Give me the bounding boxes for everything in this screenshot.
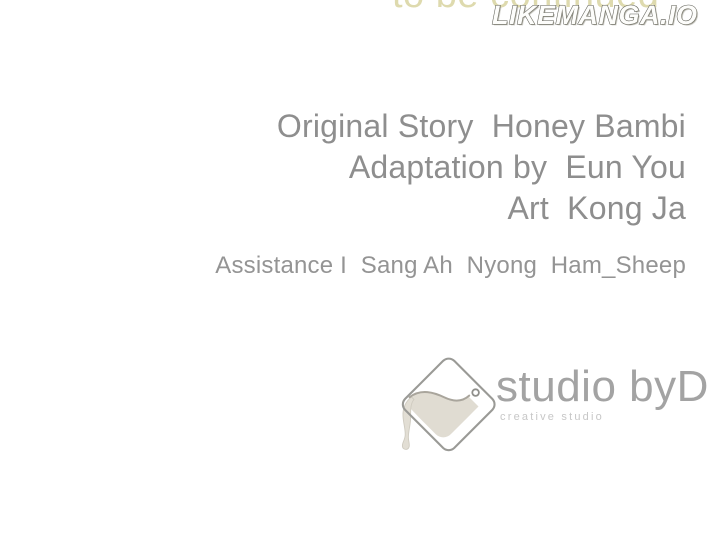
assistance-block: Assistance I Sang Ah Nyong Ham_Sheep — [0, 251, 686, 281]
credit-line-original-story: Original Story Honey Bambi — [0, 106, 686, 147]
credit-line-assistance: Assistance I Sang Ah Nyong Ham_Sheep — [0, 251, 686, 281]
credits-page: to be continued LIKEMANGA.IO Original St… — [0, 0, 720, 560]
studio-byd-logo-mark-icon — [396, 352, 502, 457]
credit-line-art: Art Kong Ja — [0, 188, 686, 229]
studio-byd-name: studio byD — [496, 360, 709, 414]
credits-block: Original Story Honey Bambi Adaptation by… — [0, 106, 686, 229]
credit-line-adaptation: Adaptation by Eun You — [0, 147, 686, 188]
studio-byd-wordmark: studio byD creative studio — [496, 360, 686, 440]
studio-byd-tagline: creative studio — [500, 410, 604, 424]
likemanga-watermark: LIKEMANGA.IO — [492, 2, 698, 29]
studio-byd-logo: studio byD creative studio — [396, 352, 686, 457]
